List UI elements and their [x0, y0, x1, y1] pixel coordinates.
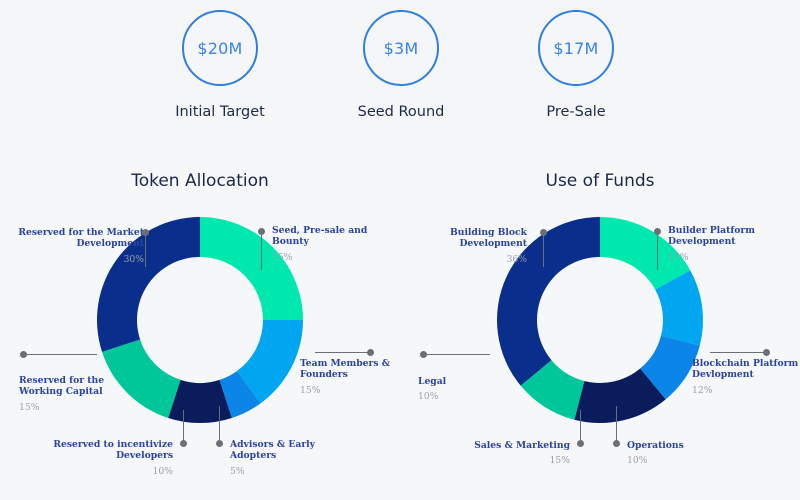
token-callout-advisors: Advisors & Early Adopters 5% — [230, 439, 330, 477]
funds-callout-builder-platform-name: Builder Platform Development — [668, 225, 780, 248]
metric-value-initial-target: $20M — [197, 39, 242, 58]
funds-callout-sales-marketing-pct: 15% — [445, 455, 570, 466]
funds-callout-builder-platform-pct: 17% — [668, 252, 780, 263]
funds-callout-blockchain-platform: Blockchain Platform Devlopment 12% — [692, 358, 800, 396]
metric-pre-sale: $17M Pre-Sale — [486, 10, 666, 120]
token-callout-working-capital: Reserved for the Working Capital 15% — [19, 375, 129, 413]
token-leader-line-market-development — [145, 233, 146, 267]
funds-callout-legal-name: Legal — [418, 376, 508, 387]
metric-circle-seed-round: $3M — [363, 10, 439, 86]
token-callout-incentivize-developers: Reserved to incentivize Developers 10% — [38, 439, 173, 477]
token-allocation-panel: Token Allocation Reserved for the Market… — [0, 140, 400, 500]
token-callout-team-members-name: Team Members & Founders — [300, 358, 400, 381]
token-allocation-title: Token Allocation — [0, 171, 400, 191]
use-of-funds-panel: Use of Funds Building Block Development … — [400, 140, 800, 500]
funds-leader-line-sales-marketing — [580, 410, 581, 442]
funds-leader-line-blockchain-platform — [710, 352, 765, 353]
token-callout-team-members: Team Members & Founders 15% — [300, 358, 400, 396]
use-of-funds-title: Use of Funds — [400, 171, 800, 191]
metric-value-pre-sale: $17M — [553, 39, 598, 58]
token-callout-seed-presale-pct: 25% — [272, 252, 384, 263]
metric-label-initial-target: Initial Target — [130, 104, 310, 120]
token-callout-team-members-pct: 15% — [300, 385, 400, 396]
funds-leader-line-building-block — [543, 233, 544, 267]
token-leader-line-working-capital — [24, 354, 97, 355]
funds-callout-builder-platform: Builder Platform Development 17% — [668, 225, 780, 263]
token-leader-line-team-members — [315, 352, 369, 353]
funds-leader-line-legal — [424, 354, 490, 355]
metric-value-seed-round: $3M — [384, 39, 419, 58]
token-callout-incentivize-developers-name: Reserved to incentivize Developers — [38, 439, 173, 462]
token-leader-line-incentivize-developers — [183, 410, 184, 442]
funds-callout-sales-marketing: Sales & Marketing 15% — [445, 440, 570, 467]
funds-callout-operations-pct: 10% — [627, 455, 722, 466]
funds-callout-blockchain-platform-name: Blockchain Platform Devlopment — [692, 358, 800, 381]
funds-callout-building-block-name: Building Block Development — [391, 227, 527, 250]
metrics-band: $20M Initial Target $3M Seed Round $17M … — [0, 0, 800, 140]
funds-leader-line-operations — [616, 406, 617, 442]
funds-callout-sales-marketing-name: Sales & Marketing — [445, 440, 570, 451]
token-callout-advisors-pct: 5% — [230, 466, 330, 477]
metric-seed-round: $3M Seed Round — [311, 10, 491, 120]
metric-label-pre-sale: Pre-Sale — [486, 104, 666, 120]
token-callout-seed-presale: Seed, Pre-sale and Bounty 25% — [272, 225, 384, 263]
token-callout-advisors-name: Advisors & Early Adopters — [230, 439, 330, 462]
token-callout-working-capital-pct: 15% — [19, 402, 129, 413]
funds-callout-building-block: Building Block Development 36% — [391, 227, 527, 265]
metric-label-seed-round: Seed Round — [311, 104, 491, 120]
token-callout-market-development-pct: 30% — [0, 254, 144, 265]
metric-circle-initial-target: $20M — [182, 10, 258, 86]
funds-callout-blockchain-platform-pct: 12% — [692, 385, 800, 396]
funds-callout-operations-name: Operations — [627, 440, 722, 451]
token-leader-line-seed-presale — [261, 232, 262, 270]
funds-leader-line-builder-platform — [657, 232, 658, 270]
token-callout-market-development: Reserved for the Market Development 30% — [0, 227, 144, 265]
charts-area: Token Allocation Reserved for the Market… — [0, 140, 800, 500]
funds-callout-legal-pct: 10% — [418, 391, 508, 402]
token-callout-incentivize-developers-pct: 10% — [38, 466, 173, 477]
funds-callout-legal: Legal 10% — [418, 376, 508, 403]
funds-callout-operations: Operations 10% — [627, 440, 722, 467]
metric-circle-pre-sale: $17M — [538, 10, 614, 86]
token-callout-working-capital-name: Reserved for the Working Capital — [19, 375, 129, 398]
metric-initial-target: $20M Initial Target — [130, 10, 310, 120]
token-callout-seed-presale-name: Seed, Pre-sale and Bounty — [272, 225, 384, 248]
token-leader-line-advisors — [219, 406, 220, 442]
token-callout-market-development-name: Reserved for the Market Development — [0, 227, 144, 250]
funds-callout-building-block-pct: 36% — [391, 254, 527, 265]
